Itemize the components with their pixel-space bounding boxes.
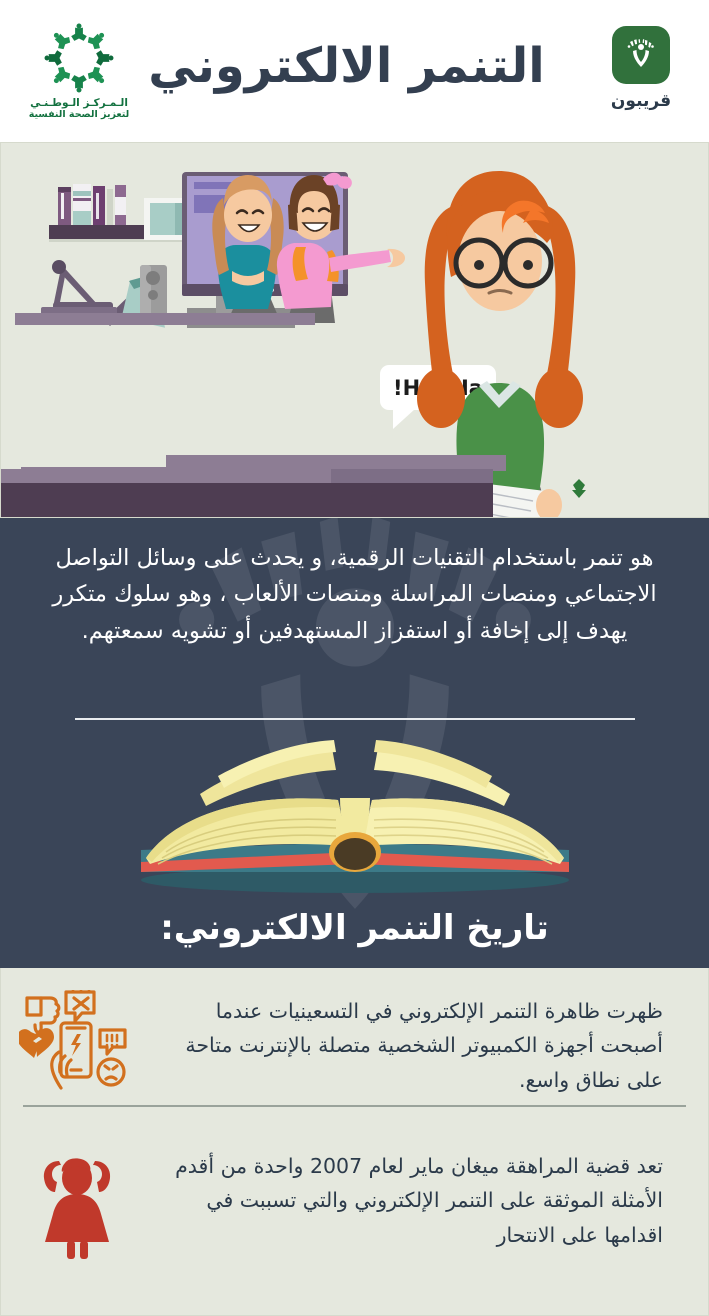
app-badge-label: قريبون [611,91,671,111]
history-megan-meier-text: تعد قضية المراهقة ميغان ماير لعام 2007 و… [158,1149,663,1252]
logo-line-2: لتعزيز الصحة النفسية [29,109,129,120]
national-center-logo-text: الـمـركـز الـوطـنـي لتعزيز الصحة النفسية [29,97,129,121]
divider-gray [23,1105,686,1107]
logo-line-1: الـمـركـز الـوطـنـي [29,97,129,109]
qareeboon-app-icon [612,26,670,84]
header: الـمـركـز الـوطـنـي لتعزيز الصحة النفسية… [0,0,709,142]
cyberbullying-illustration: Ha! Ha! [0,142,709,518]
qareeboon-glyph [619,33,663,77]
history-entry-1990s: ظهرت ظاهرة التنمر الإلكتروني في التسعيني… [0,968,709,1125]
cyberbullying-icons-cluster [19,990,129,1095]
illustration-svg: Ha! Ha! [1,143,708,517]
divider-white [75,718,635,720]
history-1990s-text: ظهرت ظاهرة التنمر الإلكتروني في التسعيني… [183,994,663,1097]
app-badge: قريبون [595,26,687,111]
history-heading: تاريخ التنمر الالكتروني: [0,908,709,948]
open-book-illustration [0,736,709,896]
definition-and-history-section: هو تنمر باستخدام التقنيات الرقمية، و يحد… [0,518,709,968]
girl-figure-icon [29,1153,125,1263]
history-entry-megan-meier: تعد قضية المراهقة ميغان ماير لعام 2007 و… [0,1125,709,1316]
open-book-icon [0,736,709,896]
infographic-page: الـمـركـز الـوطـنـي لتعزيز الصحة النفسية… [0,0,709,1316]
definition-text: هو تنمر باستخدام التقنيات الرقمية، و يحد… [28,540,681,649]
